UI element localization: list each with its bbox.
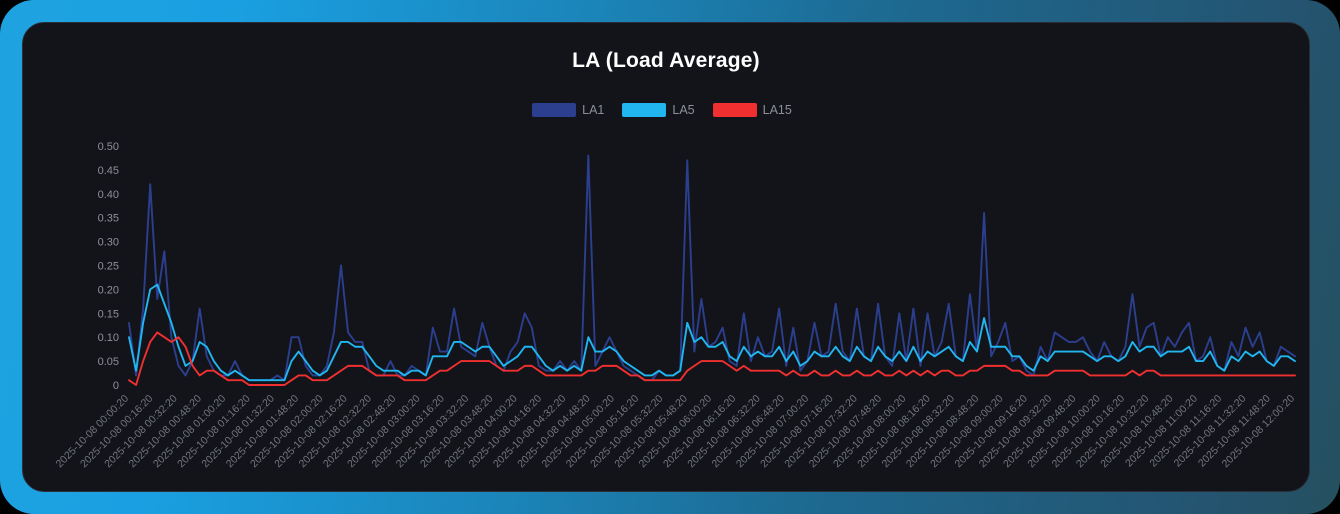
y-axis-tick-label: 0.35 [98,213,119,225]
y-axis-tick-label: 0.40 [98,189,119,201]
series-line-la5 [129,285,1295,381]
plot-area: 0.500.450.400.350.300.250.200.150.100.05… [23,23,1309,491]
y-axis-tick-label: 0.20 [98,284,119,296]
y-axis-tick-label: 0 [113,380,119,392]
y-axis-tick-label: 0.25 [98,261,119,273]
y-axis-tick-label: 0.05 [98,356,119,368]
line-chart-svg: 0.500.450.400.350.300.250.200.150.100.05… [23,23,1310,492]
chart-card: LA (Load Average) LA1LA5LA15 0.500.450.4… [22,22,1310,492]
y-axis-tick-label: 0.30 [98,237,119,249]
y-axis-tick-label: 0.10 [98,332,119,344]
y-axis-tick-label: 0.45 [98,165,119,177]
y-axis-tick-label: 0.15 [98,308,119,320]
gradient-frame: LA (Load Average) LA1LA5LA15 0.500.450.4… [0,0,1340,514]
y-axis-tick-label: 0.50 [98,141,119,153]
